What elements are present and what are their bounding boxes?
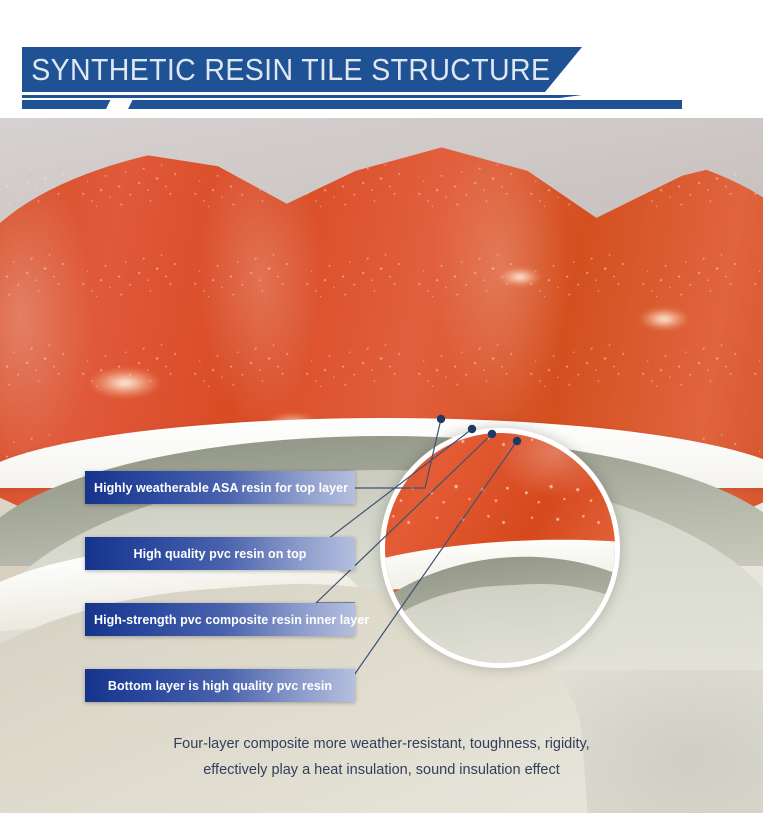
page-header: SYNTHETIC RESIN TILE STRUCTURE: [0, 0, 763, 118]
layer-label-3[interactable]: High-strength pvc composite resin inner …: [85, 603, 355, 636]
header-rule-notch: [105, 99, 133, 111]
caption-line-1: Four-layer composite more weather-resist…: [0, 731, 763, 757]
header-rule-thin: [22, 95, 582, 98]
tile-structure-photo: [0, 118, 763, 813]
title-banner: SYNTHETIC RESIN TILE STRUCTURE: [22, 47, 582, 92]
tile-highlight-1: [90, 368, 160, 398]
layer-label-1-text: Highly weatherable ASA resin for top lay…: [85, 481, 355, 495]
page-title: SYNTHETIC RESIN TILE STRUCTURE: [22, 52, 550, 88]
layer-label-3-text: High-strength pvc composite resin inner …: [85, 613, 355, 627]
layer-label-1[interactable]: Highly weatherable ASA resin for top lay…: [85, 471, 355, 504]
magnifier-circle: [380, 428, 620, 668]
layer-label-4[interactable]: Bottom layer is high quality pvc resin: [85, 669, 355, 702]
tile-highlight-3: [640, 308, 688, 330]
layer-label-4-text: Bottom layer is high quality pvc resin: [85, 679, 355, 693]
roof-tile-group: [0, 118, 763, 813]
caption-line-2: effectively play a heat insulation, soun…: [0, 757, 763, 783]
caption-block: Four-layer composite more weather-resist…: [0, 731, 763, 783]
tile-highlight-4: [500, 268, 540, 286]
layer-label-2-text: High quality pvc resin on top: [85, 547, 355, 561]
layer-label-2[interactable]: High quality pvc resin on top: [85, 537, 355, 570]
